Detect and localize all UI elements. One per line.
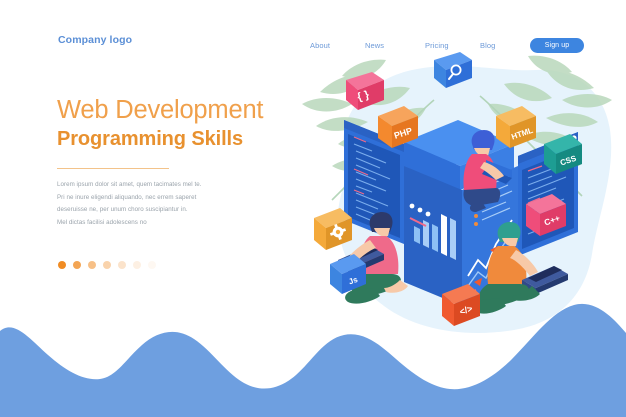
site-header: Company logo About News Pricing Blog Sig… [0, 0, 626, 75]
carousel-pagination[interactable] [58, 261, 156, 269]
hero-title-primary: Web Development [57, 96, 297, 125]
signup-button[interactable]: Sign up [530, 38, 584, 53]
hero-illustration: { } PHP HTML CSS C++ [286, 48, 626, 348]
hero-description-line: Pri ne inure eligendi aliquando, nec err… [57, 192, 297, 205]
carousel-dot[interactable] [88, 261, 96, 269]
hero-description: Lorem ipsum dolor sit amet, quem tacimat… [57, 179, 297, 230]
nav-item-blog[interactable]: Blog [480, 41, 530, 50]
hero-description-line: Lorem ipsum dolor sit amet, quem tacimat… [57, 179, 297, 192]
nav-item-pricing[interactable]: Pricing [425, 41, 480, 50]
hero-description-line: deseruisse ne, per unum choro suscipiant… [57, 204, 297, 217]
carousel-dot[interactable] [73, 261, 81, 269]
hero-description-line: Mel dictas facilisi adolescens no [57, 217, 297, 230]
company-logo[interactable]: Company logo [58, 34, 132, 46]
nav-item-about[interactable]: About [310, 41, 365, 50]
carousel-dot[interactable] [103, 261, 111, 269]
landing-page: Company logo About News Pricing Blog Sig… [0, 0, 626, 417]
nav-item-news[interactable]: News [365, 41, 425, 50]
main-navigation: About News Pricing Blog Sign up [310, 38, 584, 53]
carousel-dot[interactable] [133, 261, 141, 269]
carousel-dot[interactable] [148, 261, 156, 269]
hero-title-secondary: Programming Skills [57, 126, 297, 152]
carousel-dot[interactable] [118, 261, 126, 269]
carousel-dot[interactable] [58, 261, 66, 269]
hero-section: Web Development Programming Skills Lorem… [57, 96, 297, 230]
hero-divider [57, 168, 169, 170]
